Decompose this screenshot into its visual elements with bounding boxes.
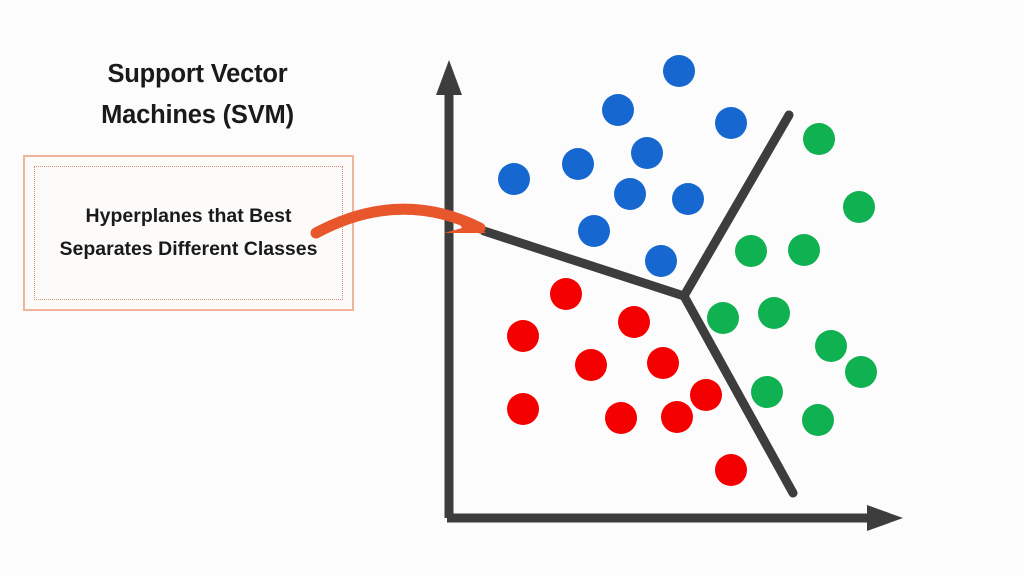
data-point bbox=[661, 401, 693, 433]
svm-illustration-slide: Support Vector Machines (SVM) Hyperplane… bbox=[0, 0, 1024, 576]
data-point bbox=[803, 123, 835, 155]
data-points bbox=[498, 55, 877, 486]
data-point bbox=[751, 376, 783, 408]
data-point bbox=[507, 320, 539, 352]
data-point bbox=[550, 278, 582, 310]
x-axis bbox=[447, 505, 903, 531]
data-point bbox=[575, 349, 607, 381]
data-point bbox=[815, 330, 847, 362]
data-point bbox=[507, 393, 539, 425]
data-point bbox=[690, 379, 722, 411]
y-axis-arrowhead-icon bbox=[436, 60, 462, 95]
hyperplane-lines bbox=[484, 115, 793, 493]
data-point bbox=[562, 148, 594, 180]
scatter-plot-canvas bbox=[0, 0, 1024, 576]
data-point bbox=[802, 404, 834, 436]
data-point bbox=[707, 302, 739, 334]
data-point bbox=[843, 191, 875, 223]
data-point bbox=[605, 402, 637, 434]
data-point bbox=[663, 55, 695, 87]
data-point bbox=[672, 183, 704, 215]
data-point bbox=[758, 297, 790, 329]
x-axis-arrowhead-icon bbox=[867, 505, 903, 531]
curved-pointer-arrow bbox=[316, 209, 486, 233]
data-point bbox=[647, 347, 679, 379]
data-point bbox=[578, 215, 610, 247]
data-point bbox=[845, 356, 877, 388]
data-point bbox=[618, 306, 650, 338]
data-point bbox=[602, 94, 634, 126]
data-point bbox=[614, 178, 646, 210]
data-point bbox=[715, 454, 747, 486]
data-point bbox=[735, 235, 767, 267]
data-point bbox=[715, 107, 747, 139]
data-point bbox=[631, 137, 663, 169]
data-point bbox=[498, 163, 530, 195]
data-point bbox=[645, 245, 677, 277]
y-axis bbox=[436, 60, 462, 518]
data-point bbox=[788, 234, 820, 266]
